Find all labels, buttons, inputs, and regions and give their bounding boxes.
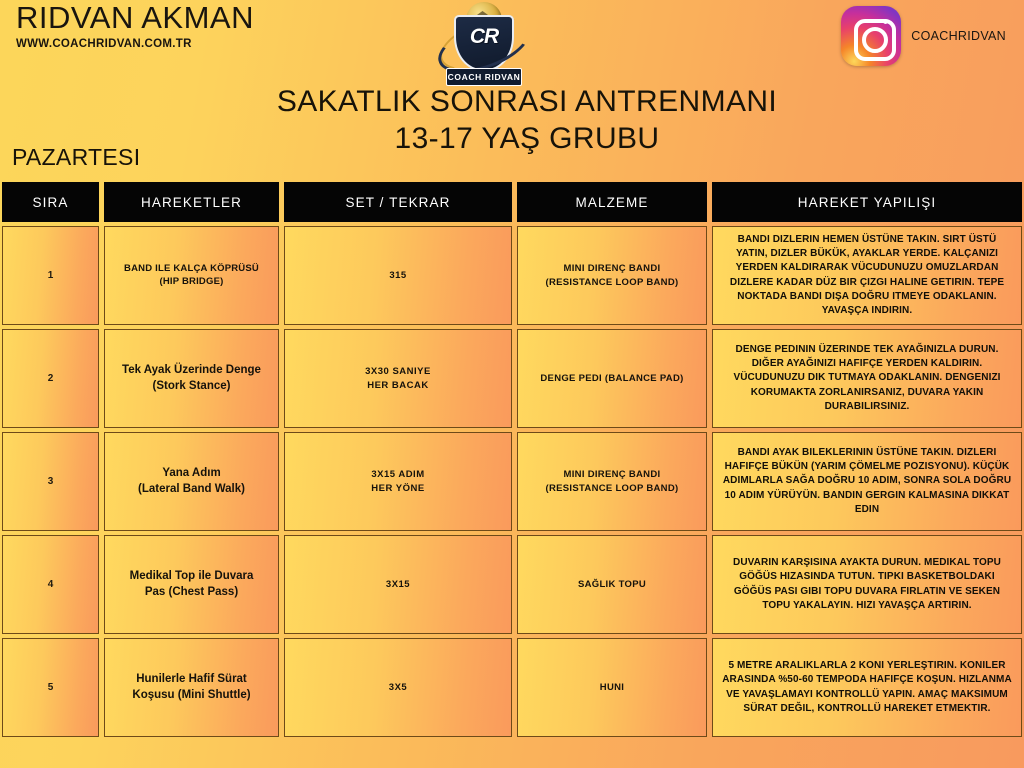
logo-label: COACH RIDVAN: [446, 68, 522, 86]
exercise-name: Yana Adım(Lateral Band Walk): [138, 466, 245, 497]
table-row: 5Hunilerle Hafif SüratKoşusu (Mini Shutt…: [0, 638, 1024, 737]
instagram-handle: COACHRIDVAN: [911, 29, 1006, 43]
title-line-2: 13-17 YAŞ GRUBU: [30, 121, 1024, 156]
column-header-set-tekrar: SET / TEKRAR: [284, 182, 512, 222]
cell-malzeme: SAĞLIK TOPU: [517, 535, 707, 634]
table-row: 3Yana Adım(Lateral Band Walk)3X15 ADIMHE…: [0, 432, 1024, 531]
sets-reps: 3X15: [386, 578, 410, 592]
table-row: 2Tek Ayak Üzerinde Denge(Stork Stance)3X…: [0, 329, 1024, 428]
sets-reps: 3X5: [389, 681, 407, 695]
column-header-hareket-yapilisi: HAREKET YAPILIŞI: [712, 182, 1022, 222]
equipment: DENGE PEDI (BALANCE PAD): [540, 372, 683, 386]
exercise-instructions: 5 METRE ARALIKLARLA 2 KONI YERLEŞTIRIN. …: [719, 659, 1015, 716]
cell-hareket-yapilisi: DUVARIN KARŞISINA AYAKTA DURUN. MEDIKAL …: [712, 535, 1022, 634]
cell-set-tekrar: 3X5: [284, 638, 512, 737]
exercise-name: Hunilerle Hafif SüratKoşusu (Mini Shuttl…: [132, 672, 250, 703]
equipment: MINI DIRENÇ BANDI(RESISTANCE LOOP BAND): [546, 468, 679, 496]
instagram-dot: [883, 19, 888, 24]
coach-ridvan-logo: CR COACH RIDVAN: [432, 2, 536, 86]
equipment: MINI DIRENÇ BANDI(RESISTANCE LOOP BAND): [546, 262, 679, 290]
row-number: 4: [48, 579, 54, 590]
cell-hareket-yapilisi: DENGE PEDININ ÜZERINDE TEK AYAĞINIZLA DU…: [712, 329, 1022, 428]
cell-hareket: Tek Ayak Üzerinde Denge(Stork Stance): [104, 329, 279, 428]
cell-sira: 4: [2, 535, 99, 634]
page-title: SAKATLIK SONRASI ANTRENMANI 13-17 YAŞ GR…: [0, 84, 1024, 156]
brand-block: RIDVAN AKMAN WWW.COACHRIDVAN.COM.TR: [16, 2, 254, 50]
column-header-hareketler: HAREKETLER: [104, 182, 279, 222]
equipment: SAĞLIK TOPU: [578, 578, 646, 592]
table-row: 1BAND ILE KALÇA KÖPRÜSÜ(HIP BRIDGE)315MI…: [0, 226, 1024, 325]
cell-sira: 2: [2, 329, 99, 428]
cell-sira: 5: [2, 638, 99, 737]
cell-malzeme: HUNI: [517, 638, 707, 737]
exercise-instructions: BANDI AYAK BILEKLERININ ÜSTÜNE TAKIN. DI…: [719, 446, 1015, 517]
row-number: 1: [48, 270, 54, 281]
table-body: 1BAND ILE KALÇA KÖPRÜSÜ(HIP BRIDGE)315MI…: [0, 226, 1024, 737]
sets-reps: 3X15 ADIMHER YÖNE: [371, 468, 424, 496]
cell-sira: 1: [2, 226, 99, 325]
page-banner: RIDVAN AKMAN WWW.COACHRIDVAN.COM.TR CR C…: [0, 0, 1024, 88]
brand-name: RIDVAN AKMAN: [16, 2, 254, 35]
exercise-name: Tek Ayak Üzerinde Denge(Stork Stance): [122, 363, 261, 394]
table-header-row: SIRA HAREKETLER SET / TEKRAR MALZEME HAR…: [0, 182, 1024, 222]
column-header-sira: SIRA: [2, 182, 99, 222]
sets-reps: 315: [389, 269, 406, 283]
cell-set-tekrar: 3X30 SANIYEHER BACAK: [284, 329, 512, 428]
cell-sira: 3: [2, 432, 99, 531]
column-header-malzeme: MALZEME: [517, 182, 707, 222]
day-label: PAZARTESI: [12, 144, 140, 171]
exercise-instructions: BANDI DIZLERIN HEMEN ÜSTÜNE TAKIN. SIRT …: [719, 233, 1015, 318]
cell-hareket: Hunilerle Hafif SüratKoşusu (Mini Shuttl…: [104, 638, 279, 737]
cell-hareket-yapilisi: BANDI DIZLERIN HEMEN ÜSTÜNE TAKIN. SIRT …: [712, 226, 1022, 325]
workout-table: SIRA HAREKETLER SET / TEKRAR MALZEME HAR…: [0, 182, 1024, 741]
row-number: 3: [48, 476, 54, 487]
sets-reps: 3X30 SANIYEHER BACAK: [365, 365, 431, 393]
table-row: 4Medikal Top ile DuvaraPas (Chest Pass)3…: [0, 535, 1024, 634]
cell-hareket: Medikal Top ile DuvaraPas (Chest Pass): [104, 535, 279, 634]
brand-website: WWW.COACHRIDVAN.COM.TR: [16, 38, 254, 50]
cell-malzeme: DENGE PEDI (BALANCE PAD): [517, 329, 707, 428]
row-number: 2: [48, 373, 54, 384]
cell-hareket-yapilisi: 5 METRE ARALIKLARLA 2 KONI YERLEŞTIRIN. …: [712, 638, 1022, 737]
equipment: HUNI: [600, 681, 624, 695]
cell-malzeme: MINI DIRENÇ BANDI(RESISTANCE LOOP BAND): [517, 432, 707, 531]
cell-set-tekrar: 315: [284, 226, 512, 325]
cell-hareket: Yana Adım(Lateral Band Walk): [104, 432, 279, 531]
cell-hareket: BAND ILE KALÇA KÖPRÜSÜ(HIP BRIDGE): [104, 226, 279, 325]
exercise-name: Medikal Top ile DuvaraPas (Chest Pass): [130, 569, 254, 600]
cell-hareket-yapilisi: BANDI AYAK BILEKLERININ ÜSTÜNE TAKIN. DI…: [712, 432, 1022, 531]
row-number: 5: [48, 682, 54, 693]
exercise-instructions: DENGE PEDININ ÜZERINDE TEK AYAĞINIZLA DU…: [719, 343, 1015, 414]
social-block[interactable]: COACHRIDVAN: [841, 6, 1006, 66]
exercise-instructions: DUVARIN KARŞISINA AYAKTA DURUN. MEDIKAL …: [719, 556, 1015, 613]
exercise-name: BAND ILE KALÇA KÖPRÜSÜ(HIP BRIDGE): [124, 263, 259, 289]
cell-malzeme: MINI DIRENÇ BANDI(RESISTANCE LOOP BAND): [517, 226, 707, 325]
cell-set-tekrar: 3X15 ADIMHER YÖNE: [284, 432, 512, 531]
title-line-1: SAKATLIK SONRASI ANTRENMANI: [30, 84, 1024, 121]
instagram-icon[interactable]: [841, 6, 901, 66]
cell-set-tekrar: 3X15: [284, 535, 512, 634]
